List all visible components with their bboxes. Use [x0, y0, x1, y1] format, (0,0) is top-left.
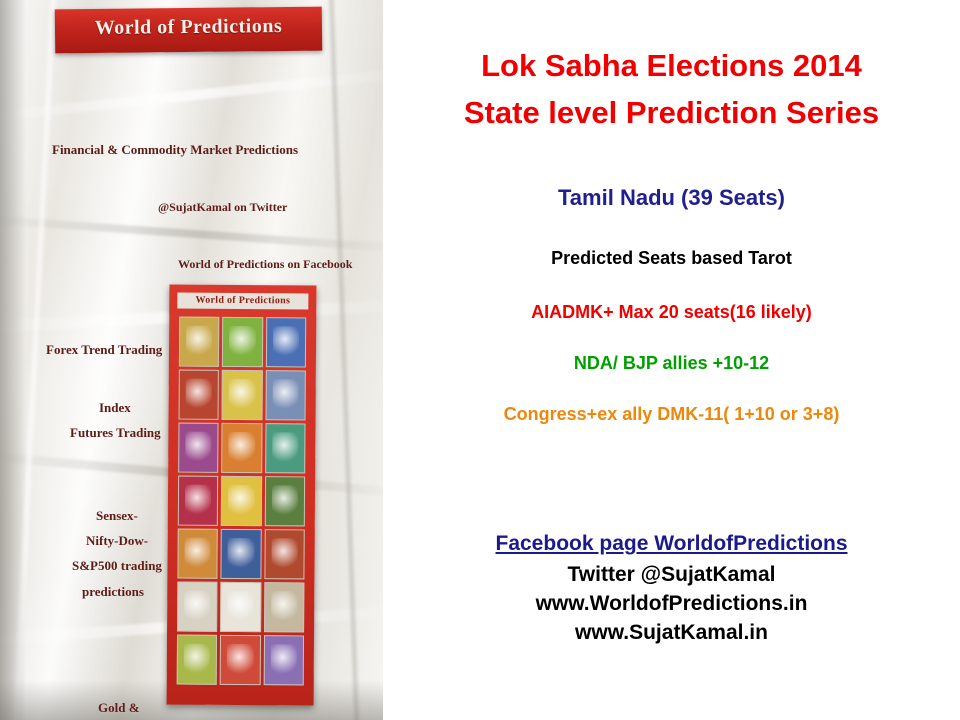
poster-card — [265, 423, 306, 473]
website-worldofpredictions: www.WorldofPredictions.in — [383, 592, 960, 616]
sheet-line: Sensex- — [96, 508, 138, 524]
slide-canvas: World of Predictions Financial & Commodi… — [0, 0, 960, 720]
poster-card — [178, 476, 219, 526]
banner-title-text: World of Predictions — [55, 15, 322, 41]
inner-poster: World of Predictions — [167, 284, 317, 705]
sheet-line: Forex Trend Trading — [46, 342, 162, 358]
facebook-page-link[interactable]: Facebook page WorldofPredictions — [383, 532, 960, 556]
poster-card — [264, 476, 305, 526]
twitter-handle: Twitter @SujatKamal — [383, 563, 960, 587]
promo-photo: World of Predictions Financial & Commodi… — [0, 0, 383, 720]
prediction-row-aiadmk: AIADMK+ Max 20 seats(16 likely) — [383, 302, 960, 323]
poster-card — [266, 317, 307, 367]
slide-title-line-1: Lok Sabha Elections 2014 — [383, 48, 960, 84]
poster-card — [178, 423, 219, 473]
poster-card — [220, 635, 261, 685]
poster-card — [222, 370, 263, 420]
poster-card — [220, 582, 261, 632]
poster-card — [179, 317, 220, 367]
poster-card — [177, 635, 218, 685]
sheet-line: Financial & Commodity Market Predictions — [52, 142, 298, 158]
sheet-line: World of Predictions on Facebook — [178, 257, 352, 272]
poster-card — [179, 370, 220, 420]
sheet-line: Nifty-Dow- — [86, 533, 148, 549]
sheet-line: Futures Trading — [70, 425, 161, 441]
poster-card — [264, 582, 305, 632]
poster-card — [221, 423, 262, 473]
slide-subtitle: Tamil Nadu (39 Seats) — [383, 185, 960, 211]
slide-title-line-2: State level Prediction Series — [383, 95, 960, 131]
predicted-seats-label: Predicted Seats based Tarot — [383, 248, 960, 269]
prediction-row-nda: NDA/ BJP allies +10-12 — [383, 353, 960, 374]
photo-edge-shadow — [0, 0, 26, 720]
poster-card — [263, 635, 304, 685]
poster-card — [177, 582, 218, 632]
sheet-line: Gold & — [98, 700, 140, 716]
prediction-row-congress: Congress+ex ally DMK-11( 1+10 or 3+8) — [383, 404, 960, 425]
poster-title-text: World of Predictions — [177, 293, 308, 310]
sheet-line: predictions — [82, 584, 144, 600]
poster-card — [221, 529, 262, 579]
poster-card-grid — [177, 317, 307, 686]
sheet-line: S&P500 trading — [72, 558, 162, 574]
slide-text-panel: Lok Sabha Elections 2014 State level Pre… — [383, 0, 960, 720]
poster-card — [264, 529, 305, 579]
website-sujatkamal: www.SujatKamal.in — [383, 621, 960, 645]
sheet-line: @SujatKamal on Twitter — [158, 200, 287, 215]
poster-card — [221, 476, 262, 526]
sheet-line: Index — [99, 400, 131, 416]
poster-card — [177, 529, 218, 579]
world-of-predictions-banner: World of Predictions — [55, 7, 322, 54]
poster-card — [222, 317, 263, 367]
poster-card — [265, 370, 306, 420]
